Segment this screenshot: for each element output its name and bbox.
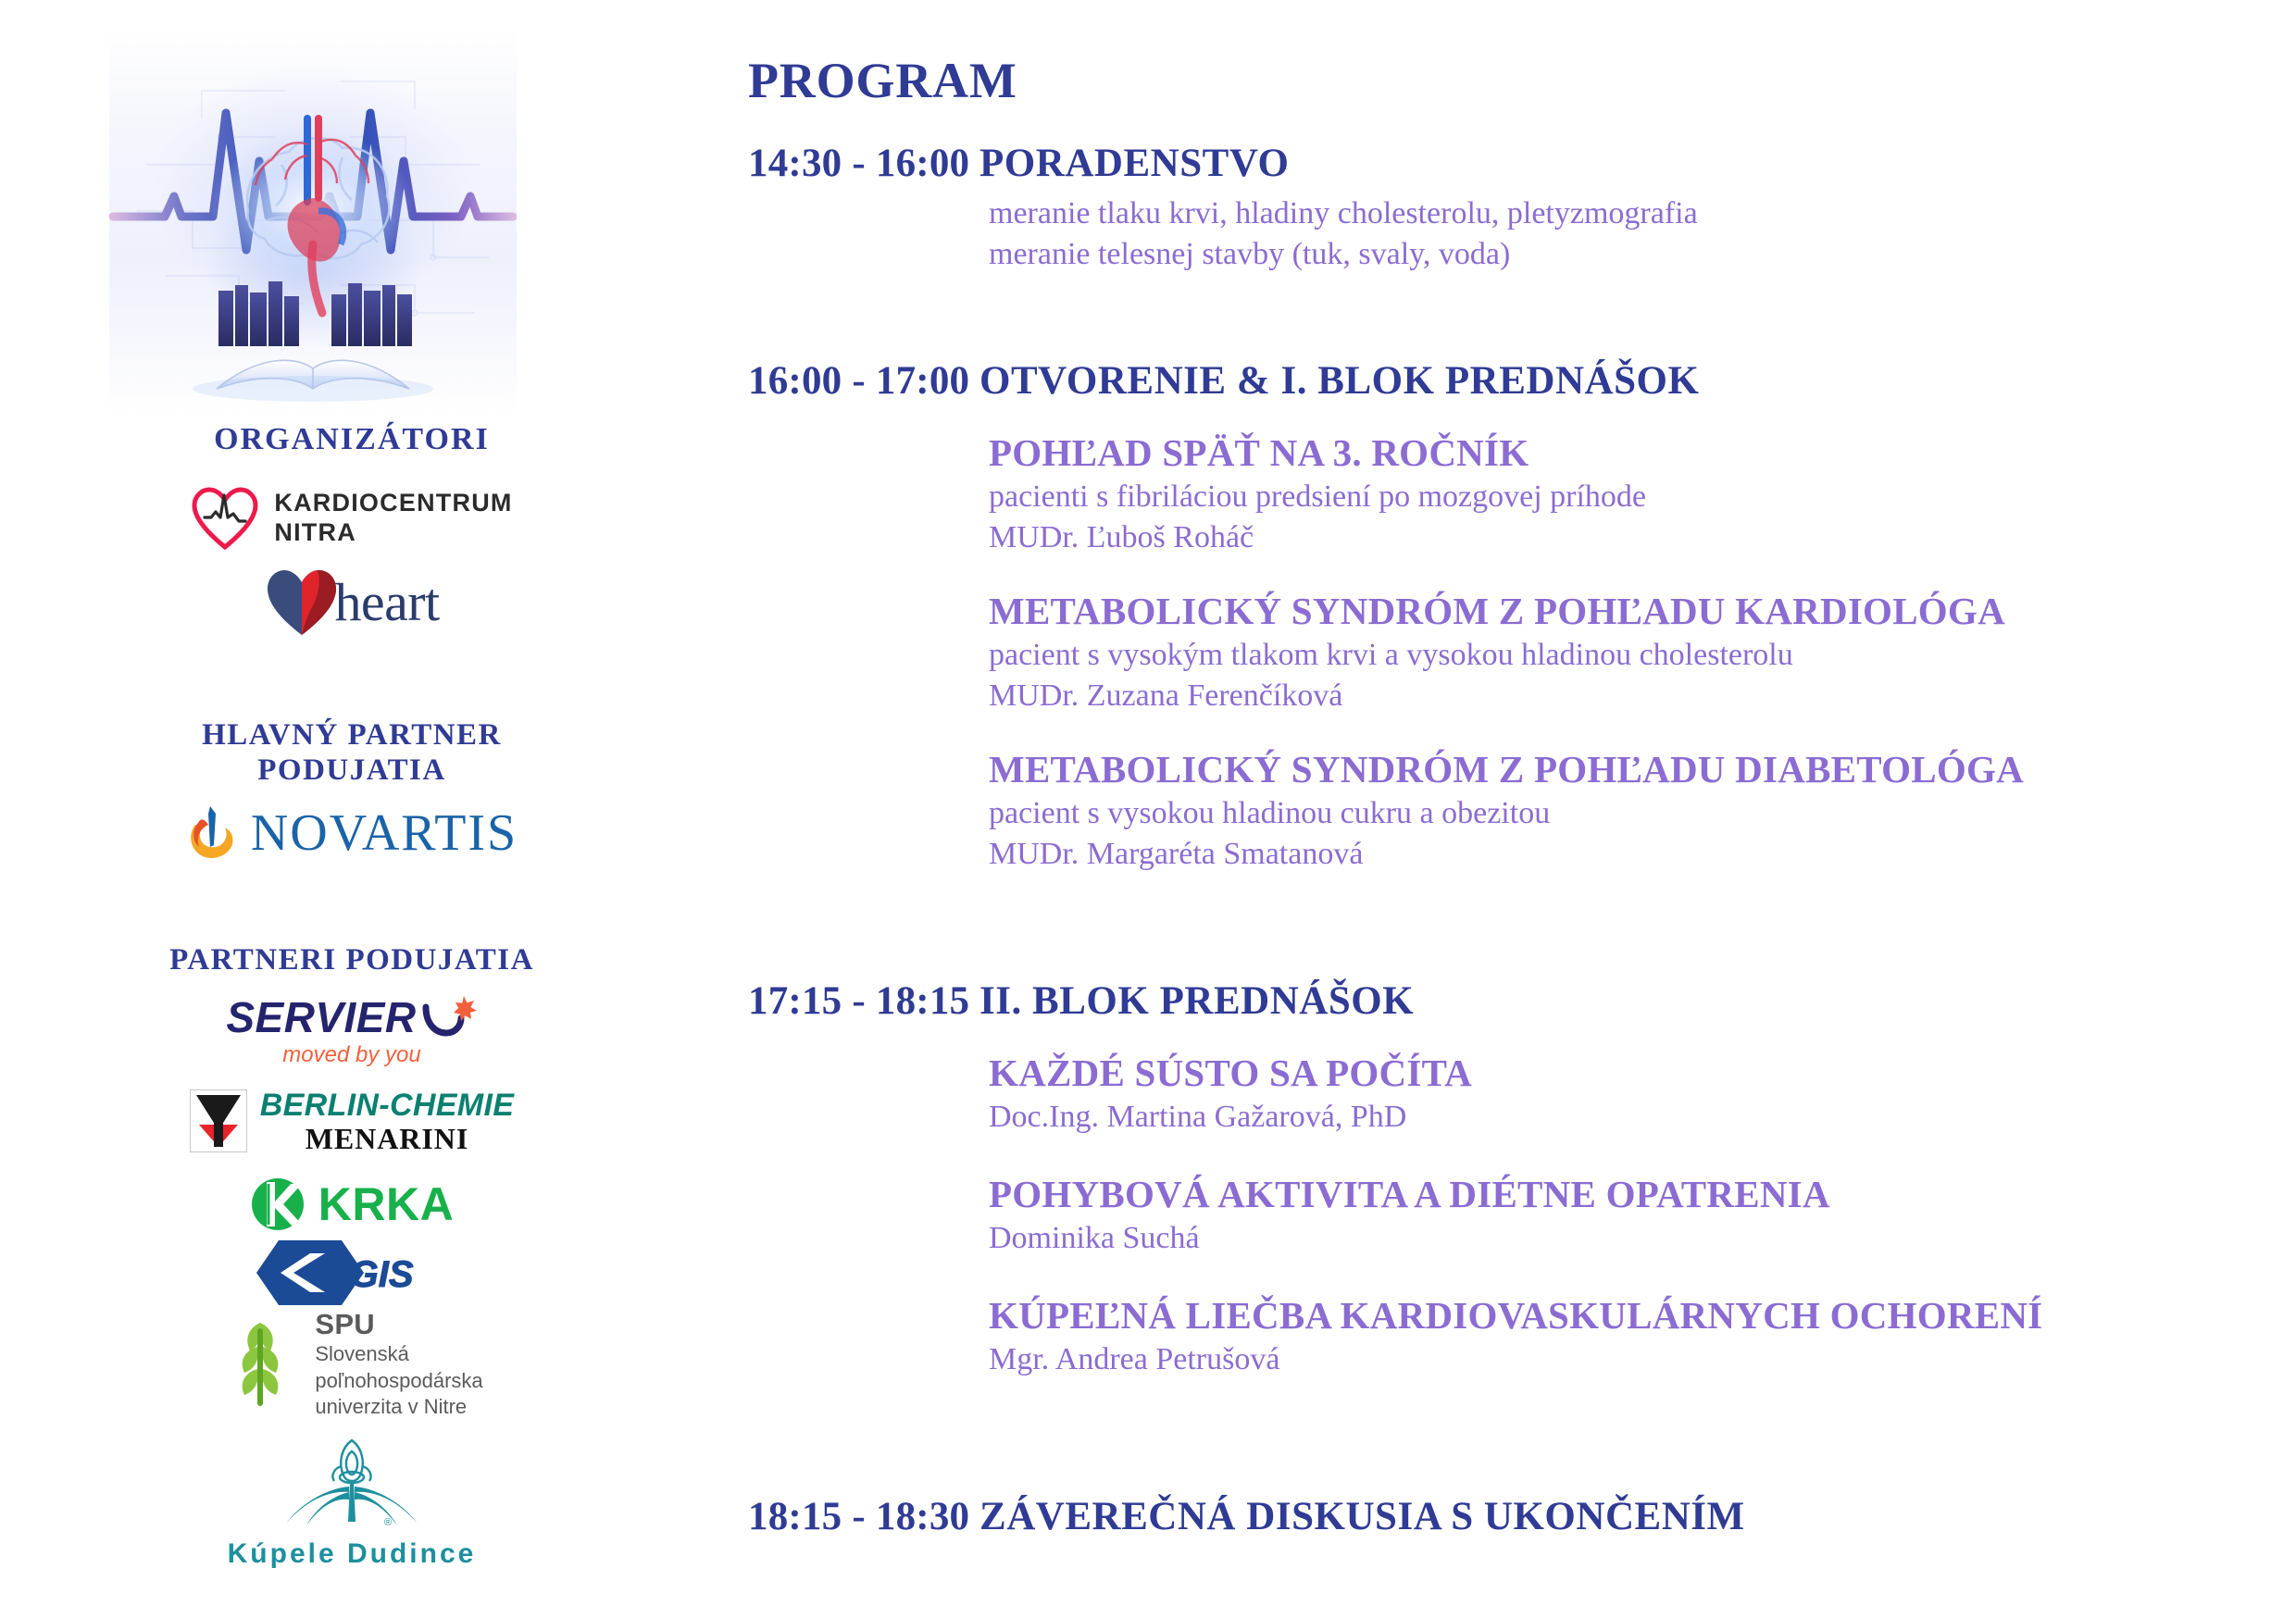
dudince-wordmark: Kúpele Dudince xyxy=(228,1538,477,1570)
talk-title: KÚPEĽNÁ LIEČBA KARDIOVASKULÁRNYCH OCHORE… xyxy=(989,1292,2296,1339)
program-slot: 14:30 - 16:00 PORADENSTVO meranie tlaku … xyxy=(704,141,2296,275)
spu-line3: univerzita v Nitre xyxy=(315,1394,482,1420)
kardiocentrum-line1: KARDIOCENTRUM xyxy=(274,489,512,518)
logo-egis: EGIS EGIS xyxy=(0,1240,704,1305)
logo-novartis: NOVARTIS xyxy=(0,801,704,865)
logo-heart: heart xyxy=(0,565,704,639)
talk-item: KAŽDÉ SÚSTO SA POČÍTA Doc.Ing. Martina G… xyxy=(989,1050,2296,1138)
kardiocentrum-line2: NITRA xyxy=(274,518,512,548)
berlin-chemie-line2: MENARINI xyxy=(260,1124,515,1153)
kardiocentrum-heart-icon xyxy=(191,486,259,551)
talk-item: POHYBOVÁ AKTIVITA A DIÉTNE OPATRENIA Dom… xyxy=(989,1171,2296,1259)
talk-description: pacient s vysokou hladinou cukru a obezi… xyxy=(989,793,2296,834)
logo-krka: KRKA xyxy=(0,1174,704,1235)
label-partneri-podujatia: PARTNERI PODUJATIA xyxy=(0,942,704,977)
talk-title: POHĽAD SPÄŤ NA 3. ROČNÍK xyxy=(989,429,2296,477)
slot-header: 14:30 - 16:00 PORADENSTVO xyxy=(704,141,2296,186)
slot-detail-line: meranie telesnej stavby (tuk, svaly, vod… xyxy=(989,234,2296,275)
krka-k-icon xyxy=(250,1176,306,1232)
talk-speaker: MUDr. Zuzana Ferenčíková xyxy=(989,676,2296,716)
hero-graphic xyxy=(109,26,517,415)
berlin-chemie-line1: BERLIN-CHEMIE xyxy=(260,1089,515,1121)
sidebar: ORGANIZÁTORI KARDIOCENTRUM NITRA heart H… xyxy=(0,0,704,1618)
slot-body: KAŽDÉ SÚSTO SA POČÍTA Doc.Ing. Martina G… xyxy=(980,1050,2296,1380)
heart-wordmark: heart xyxy=(334,571,439,633)
svg-text:®: ® xyxy=(384,1517,392,1528)
label-hlavny-partner-line1: HLAVNÝ PARTNER xyxy=(0,717,704,753)
slot-time: 17:15 - 18:15 xyxy=(748,978,970,1024)
servier-wordmark: SERVIER xyxy=(226,992,416,1042)
talk-description: pacienti s fibriláciou predsiení po mozg… xyxy=(989,477,2296,517)
page-title: PROGRAM xyxy=(748,52,1017,109)
slot-title: OTVORENIE & I. BLOK PREDNÁŠOK xyxy=(970,358,1699,404)
label-hlavny-partner: HLAVNÝ PARTNER PODUJATIA xyxy=(0,717,704,789)
slot-header: 16:00 - 17:00 OTVORENIE & I. BLOK PREDNÁ… xyxy=(704,358,2296,404)
servier-swoosh-star-icon xyxy=(420,994,478,1040)
svg-text:EGIS: EGIS xyxy=(325,1254,414,1295)
talk-title: METABOLICKÝ SYNDRÓM Z POHĽADU KARDIOLÓGA xyxy=(989,588,2296,635)
logo-kardiocentrum-nitra: KARDIOCENTRUM NITRA xyxy=(0,481,704,555)
egis-hexagon-icon: EGIS EGIS xyxy=(245,1238,458,1307)
talk-title: KAŽDÉ SÚSTO SA POČÍTA xyxy=(989,1050,2296,1097)
krka-wordmark: KRKA xyxy=(318,1177,454,1231)
kardiocentrum-wordmark: KARDIOCENTRUM NITRA xyxy=(274,489,512,548)
slot-time: 18:15 - 18:30 xyxy=(748,1494,970,1539)
logo-kupele-dudince: ® Kúpele Dudince xyxy=(0,1433,704,1572)
novartis-wordmark: NOVARTIS xyxy=(251,803,518,863)
dudince-fountain-icon: ® xyxy=(273,1435,430,1537)
program-slot: 16:00 - 17:00 OTVORENIE & I. BLOK PREDNÁ… xyxy=(704,358,2296,876)
logo-servier: SERVIER moved by you xyxy=(0,990,704,1070)
talk-speaker: Doc.Ing. Martina Gažarová, PhD xyxy=(989,1097,2296,1138)
talk-item: KÚPEĽNÁ LIEČBA KARDIOVASKULÁRNYCH OCHORE… xyxy=(989,1292,2296,1380)
talk-title: METABOLICKÝ SYNDRÓM Z POHĽADU DIABETOLÓG… xyxy=(989,746,2296,793)
spu-abbrev: SPU xyxy=(315,1307,482,1341)
slot-body: POHĽAD SPÄŤ NA 3. ROČNÍK pacienti s fibr… xyxy=(980,429,2296,876)
talk-item: POHĽAD SPÄŤ NA 3. ROČNÍK pacienti s fibr… xyxy=(989,429,2296,558)
talk-speaker: MUDr. Ľuboš Roháč xyxy=(989,517,2296,558)
label-hlavny-partner-line2: PODUJATIA xyxy=(0,753,704,788)
talk-item: METABOLICKÝ SYNDRÓM Z POHĽADU DIABETOLÓG… xyxy=(989,746,2296,875)
servier-tagline: moved by you xyxy=(282,1042,420,1068)
slot-time: 14:30 - 16:00 xyxy=(748,141,970,186)
slot-time: 16:00 - 17:00 xyxy=(748,358,970,404)
spu-line1: Slovenská xyxy=(315,1341,482,1367)
spu-wheat-icon xyxy=(220,1315,300,1412)
novartis-flame-icon xyxy=(186,804,238,862)
slot-title: ZÁVEREČNÁ DISKUSIA S UKONČENÍM xyxy=(970,1494,1745,1539)
talk-item: METABOLICKÝ SYNDRÓM Z POHĽADU KARDIOLÓGA… xyxy=(989,588,2296,716)
program-panel: PROGRAM 14:30 - 16:00 PORADENSTVO merani… xyxy=(704,0,2296,1618)
logo-spu: SPU Slovenská poľnohospodárska univerzit… xyxy=(0,1313,704,1414)
talk-speaker: Dominika Suchá xyxy=(989,1218,2296,1259)
talk-description: pacient s vysokým tlakom krvi a vysokou … xyxy=(989,635,2296,676)
talk-title: POHYBOVÁ AKTIVITA A DIÉTNE OPATRENIA xyxy=(989,1171,2296,1218)
slot-title: II. BLOK PREDNÁŠOK xyxy=(970,978,1414,1024)
label-organizatori: ORGANIZÁTORI xyxy=(0,421,704,457)
menarini-m-icon xyxy=(190,1089,247,1152)
heart-shape-icon xyxy=(264,566,340,637)
slot-header: 18:15 - 18:30 ZÁVEREČNÁ DISKUSIA S UKONČ… xyxy=(704,1494,2296,1539)
slot-header: 17:15 - 18:15 II. BLOK PREDNÁŠOK xyxy=(704,978,2296,1024)
spu-wordmark: SPU Slovenská poľnohospodárska univerzit… xyxy=(315,1307,482,1420)
hero-illustration xyxy=(109,26,517,415)
servier-main: SERVIER xyxy=(226,992,477,1042)
talk-speaker: MUDr. Margaréta Smatanová xyxy=(989,834,2296,875)
slot-detail-line: meranie tlaku krvi, hladiny cholesterolu… xyxy=(989,193,2296,234)
shelf-glow xyxy=(193,376,433,402)
logo-berlin-chemie-menarini: BERLIN-CHEMIE MENARINI xyxy=(0,1081,704,1161)
program-slot: 18:15 - 18:30 ZÁVEREČNÁ DISKUSIA S UKONČ… xyxy=(704,1494,2296,1539)
talk-speaker: Mgr. Andrea Petrušová xyxy=(989,1339,2296,1380)
slot-title: PORADENSTVO xyxy=(970,141,1290,186)
spu-line2: poľnohospodárska xyxy=(315,1368,482,1394)
program-slot: 17:15 - 18:15 II. BLOK PREDNÁŠOK KAŽDÉ S… xyxy=(704,978,2296,1380)
berlin-chemie-wordmark: BERLIN-CHEMIE MENARINI xyxy=(260,1089,515,1153)
slot-body: meranie tlaku krvi, hladiny cholesterolu… xyxy=(980,193,2296,275)
